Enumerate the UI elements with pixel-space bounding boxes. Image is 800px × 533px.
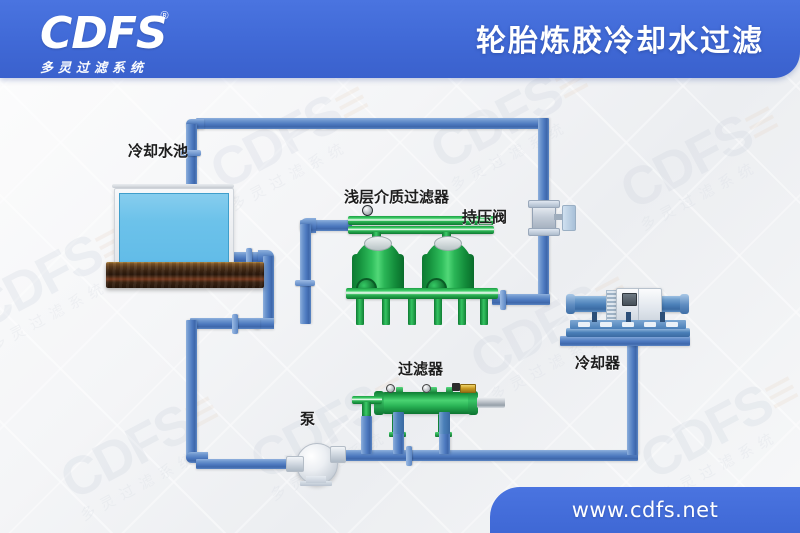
- filter-valve-handle[interactable]: [452, 383, 460, 391]
- cooler-head-left: [566, 294, 575, 314]
- filter-top-manifold-lower: [348, 226, 494, 234]
- pump-suction-nozzle: [286, 456, 304, 472]
- pipe-filter-riser: [393, 412, 404, 434]
- pipe-filter-riser: [439, 412, 450, 434]
- tank-leg: [356, 299, 364, 325]
- pipe-filter-leg-drop: [393, 432, 404, 454]
- filter-gold-valve[interactable]: [460, 384, 476, 393]
- valve-flange-top: [528, 200, 560, 208]
- label-shallow-media-filter: 浅层介质过滤器: [344, 186, 449, 207]
- tank-leg: [458, 299, 466, 325]
- filter-top-nozzle: [396, 387, 403, 393]
- website-url[interactable]: www.cdfs.net: [572, 498, 719, 522]
- brand-logo[interactable]: CDFS ® 多灵过滤系统: [40, 12, 270, 68]
- filter-chrome-outlet: [477, 397, 505, 408]
- label-cooler: 冷却器: [575, 352, 620, 373]
- cooler-base-skid: [566, 328, 690, 337]
- pipe-pump-suction: [196, 459, 292, 469]
- cooler-panel-window: [644, 322, 656, 327]
- cooler-panel-window: [666, 322, 678, 327]
- pipe-collar: [232, 314, 238, 334]
- filter-gauge-icon: [386, 384, 395, 393]
- diagram-canvas: CDFS≡ 多灵过滤系统 CDFS≡ 多灵过滤系统 CDFS≡ 多灵过滤系统 C…: [0, 0, 800, 533]
- cooler-panel-window: [600, 322, 612, 327]
- cooling-pool-water: [119, 193, 229, 263]
- pump-pedestal: [306, 476, 326, 483]
- pool-wooden-base: [106, 262, 264, 288]
- tank-leg: [480, 299, 488, 325]
- process-flow-diagram: 冷却水池 浅层介质过滤器: [0, 0, 800, 533]
- tank-manway-hatch: [364, 236, 392, 251]
- pipe-pump-discharge-riser: [361, 416, 372, 454]
- pipe-suction-downcomer: [186, 320, 197, 458]
- registered-trademark-icon: ®: [160, 10, 168, 22]
- brand-wordmark: CDFS: [40, 8, 167, 59]
- pipe-pool-downcomer: [263, 256, 274, 324]
- label-cooling-pool: 冷却水池: [128, 140, 188, 161]
- pump-discharge-nozzle: [330, 446, 346, 463]
- valve-actuator-cap[interactable]: [562, 205, 576, 231]
- cooler-support-foot: [626, 312, 631, 322]
- filter-top-nozzle: [430, 387, 437, 393]
- pipe-top-header: [196, 118, 548, 129]
- label-pressure-sustaining-valve: 持压阀: [462, 206, 507, 227]
- filter-unit[interactable]: [372, 382, 502, 452]
- page-footer: www.cdfs.net: [490, 487, 800, 533]
- valve-flange-bottom: [528, 228, 560, 236]
- label-filter: 过滤器: [398, 358, 443, 379]
- pipe-to-suction-header: [190, 318, 260, 329]
- label-pump: 泵: [300, 408, 315, 429]
- cooler-head-right: [680, 294, 689, 314]
- panel-divider: [638, 288, 639, 322]
- brand-subtitle: 多灵过滤系统: [40, 57, 270, 76]
- filter-bottom-manifold: [346, 288, 498, 299]
- cooler-support-foot: [660, 312, 665, 322]
- pipe-filter-leg-drop: [439, 432, 450, 454]
- page-header: CDFS ® 多灵过滤系统 轮胎炼胶冷却水过滤: [0, 0, 800, 78]
- pipe-collar: [500, 290, 506, 310]
- cooling-pool-frame: [114, 188, 234, 268]
- tank-leg: [408, 299, 416, 325]
- page-title: 轮胎炼胶冷却水过滤: [476, 16, 764, 60]
- filter-gauge-icon: [422, 384, 431, 393]
- cooler-display-screen: [622, 293, 637, 306]
- pressure-gauge-icon: [362, 205, 373, 216]
- pipe-filter-inlet-riser: [300, 224, 311, 324]
- filter-body: [380, 392, 474, 414]
- pipe-cooler-return-riser: [627, 340, 638, 455]
- cooler-panel-window: [622, 322, 634, 327]
- cooler-unit[interactable]: [566, 288, 690, 338]
- tank-leg: [434, 299, 442, 325]
- cooler-support-foot: [592, 312, 597, 322]
- tank-leg: [382, 299, 390, 325]
- tank-manway-hatch: [434, 236, 462, 251]
- pipe-collar: [295, 280, 315, 286]
- cooler-panel-window: [578, 322, 590, 327]
